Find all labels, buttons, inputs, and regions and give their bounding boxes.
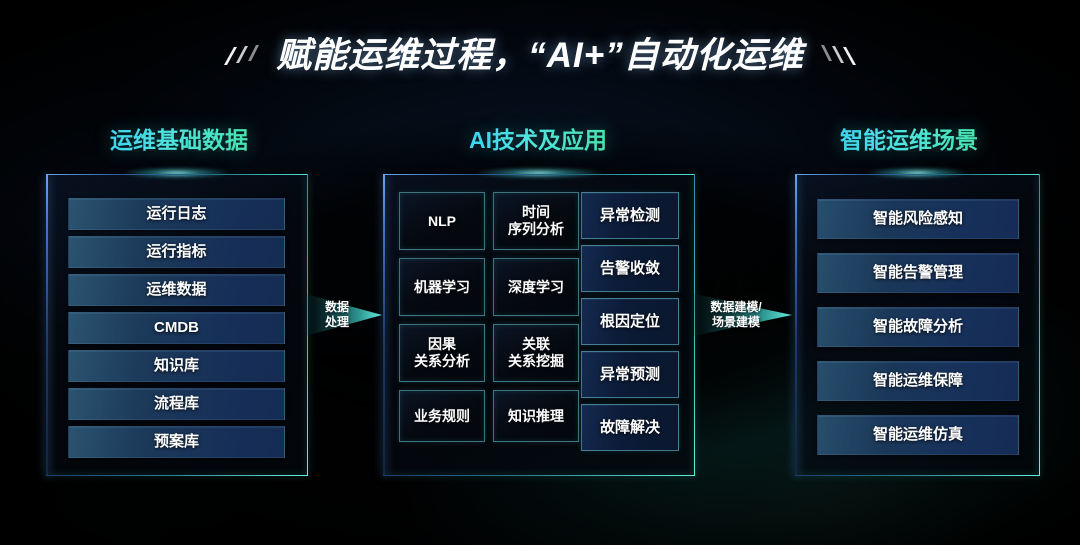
application-item[interactable]: 告警收敛: [581, 245, 679, 292]
list-item[interactable]: 预案库: [68, 426, 285, 458]
flow-arrow-line1: 数据建模/: [710, 300, 761, 315]
panel-border-top: [46, 174, 308, 175]
grid-item-line1: 时间: [508, 204, 564, 221]
grid-item-line1: 关联: [508, 336, 564, 353]
column-header-middle: AI技术及应用: [469, 121, 607, 155]
grid-item[interactable]: 深度学习: [493, 258, 579, 316]
column-header-right: 智能运维场景: [840, 121, 978, 155]
grid-item[interactable]: 机器学习: [399, 258, 485, 316]
flow-arrow-data-modeling: 数据建模/ 场景建模: [694, 284, 794, 346]
list-item[interactable]: 流程库: [68, 388, 285, 420]
application-item[interactable]: 异常检测: [581, 192, 679, 239]
application-item[interactable]: 异常预测: [581, 351, 679, 398]
list-item[interactable]: 知识库: [68, 350, 285, 382]
slide-background: 赋能运维过程，“AI+”自动化运维 运维基础数据 AI技术及应用 智能运维场景 …: [0, 0, 1080, 545]
list-item[interactable]: CMDB: [68, 312, 285, 344]
application-item[interactable]: 根因定位: [581, 298, 679, 345]
panel-border-left: [46, 174, 48, 476]
panel-border-bottom: [46, 475, 308, 476]
panel-intelligent-ops-scenarios: 智能风险感知 智能告警管理 智能故障分析 智能运维保障 智能运维仿真: [795, 174, 1040, 476]
list-item[interactable]: 智能故障分析: [817, 307, 1019, 347]
grid-item[interactable]: 业务规则: [399, 390, 485, 442]
list-item[interactable]: 智能告警管理: [817, 253, 1019, 293]
panel-border-top: [795, 174, 1040, 175]
list-item[interactable]: 智能运维仿真: [817, 415, 1019, 455]
column-header-left: 运维基础数据: [110, 121, 248, 155]
list-item[interactable]: 智能运维保障: [817, 361, 1019, 401]
panel-ops-base-data: 运行日志 运行指标 运维数据 CMDB 知识库 流程库 预案库: [46, 174, 308, 476]
flow-arrow-line1: 数据: [325, 300, 349, 315]
grid-item[interactable]: NLP: [399, 192, 485, 250]
grid-item[interactable]: 因果 关系分析: [399, 324, 485, 382]
panel-border-top: [383, 174, 695, 175]
grid-item[interactable]: 知识推理: [493, 390, 579, 442]
page-title: 赋能运维过程，“AI+”自动化运维: [276, 27, 803, 78]
panel-border-bottom: [383, 475, 695, 476]
grid-item-line2: 关系分析: [414, 353, 470, 370]
flow-arrow-line2: 场景建模: [712, 315, 760, 330]
application-item[interactable]: 故障解决: [581, 404, 679, 451]
flow-arrow-line2: 处理: [325, 315, 349, 330]
flow-arrow-label: 数据 处理: [306, 284, 384, 346]
list-item[interactable]: 运行日志: [68, 198, 285, 230]
slash-marks-left-icon: [222, 32, 264, 72]
grid-item-line2: 关系挖掘: [508, 353, 564, 370]
list-item[interactable]: 运维数据: [68, 274, 285, 306]
list-item[interactable]: 运行指标: [68, 236, 285, 268]
panel-ai-tech-applications: NLP 时间 序列分析 机器学习 深度学习 因果 关系分析 关联 关系挖掘 业务…: [383, 174, 695, 476]
panel-border-left: [795, 174, 797, 476]
grid-item-line1: 因果: [414, 336, 470, 353]
slide-title-bar: 赋能运维过程，“AI+”自动化运维: [0, 22, 1080, 82]
flow-arrow-label: 数据建模/ 场景建模: [694, 284, 794, 346]
panel-border-left: [383, 174, 385, 476]
panel-border-right: [1039, 174, 1040, 476]
grid-item[interactable]: 关联 关系挖掘: [493, 324, 579, 382]
grid-item[interactable]: 时间 序列分析: [493, 192, 579, 250]
flow-arrow-data-processing: 数据 处理: [306, 284, 384, 346]
grid-item-line2: 序列分析: [508, 221, 564, 238]
panel-border-bottom: [795, 475, 1040, 476]
slash-marks-right-icon: [816, 32, 858, 72]
list-item[interactable]: 智能风险感知: [817, 199, 1019, 239]
